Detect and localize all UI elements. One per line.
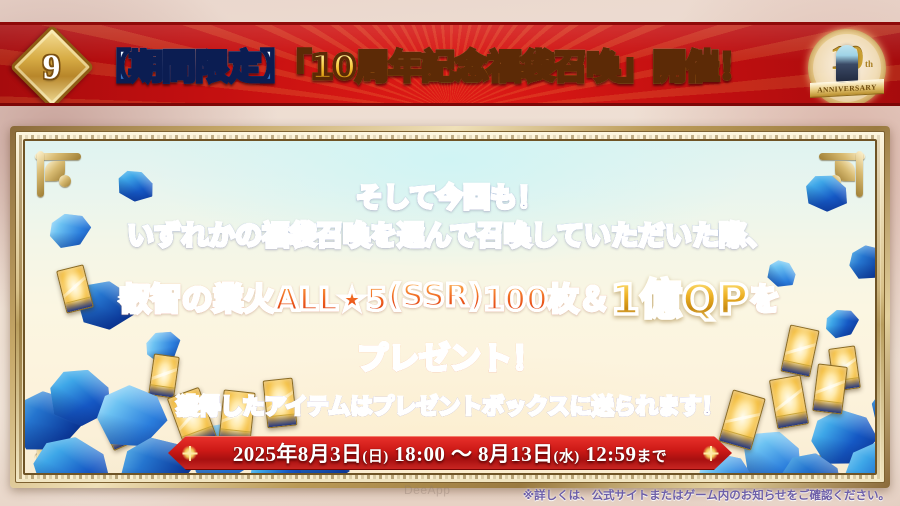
period-start-date: 2025年8月3日: [233, 442, 363, 466]
period-start-time: 18:00: [394, 442, 445, 466]
period-separator: 〜: [451, 442, 472, 466]
panel-inner-surface: そして今回も！ いずれかの福袋召喚を選んで召喚していただいた際、 叡智の業火AL…: [23, 139, 877, 475]
announcement-screen: 9 【期間限定】「10周年記念福袋召喚」開催！ 10 th ANNIVERSAR…: [0, 0, 900, 506]
title-highlight-text: 【期間限定】: [96, 48, 294, 88]
reward-rarity: (SSR): [387, 278, 482, 314]
period-end-time: 12:59: [585, 442, 636, 466]
present-label: プレゼント！: [25, 333, 875, 378]
reward-line: 叡智の業火ALL★5(SSR)100枚＆1億QPを: [25, 266, 875, 327]
event-period-text: 2025年8月3日(日) 18:00 〜 8月13日(水) 12:59まで: [233, 438, 667, 468]
period-suffix: まで: [636, 449, 667, 465]
anniversary-ordinal: th: [865, 59, 873, 69]
sparkle-right-icon: [703, 446, 718, 461]
period-start-weekday: (日): [362, 449, 388, 465]
body-line-last: 獲得したアイテムはプレゼントボックスに送られます！: [25, 396, 875, 419]
period-end-weekday: (水): [554, 449, 580, 465]
anniversary-character-icon: [836, 45, 858, 85]
watermark: DeeApp: [404, 483, 450, 497]
body-line-2: いずれかの福袋召喚を選んで召喚していただいた際、: [25, 223, 875, 251]
reward-qp-amount: 1億QP: [611, 266, 749, 327]
anniversary-label: ANNIVERSARY: [817, 82, 877, 94]
item-number-label: 9: [43, 50, 61, 85]
reward-suffix: を: [749, 274, 780, 319]
page-title: 【期間限定】「10周年記念福袋召喚」開催！: [96, 40, 751, 89]
reward-item-name: 叡智の業火ALL★5: [120, 274, 388, 319]
footnote: ※詳しくは、公式サイトまたはゲーム内のお知らせをご確認ください。: [523, 487, 890, 503]
period-end-date: 8月13日: [478, 442, 554, 466]
event-period-banner: 2025年8月3日(日) 18:00 〜 8月13日(水) 12:59まで: [168, 436, 732, 470]
announcement-body: そして今回も！ いずれかの福袋召喚を選んで召喚していただいた際、 叡智の業火AL…: [25, 185, 875, 419]
header-bar: 9 【期間限定】「10周年記念福袋召喚」開催！ 10 th ANNIVERSAR…: [0, 22, 900, 106]
title-main-text: 「10周年記念福袋召喚」開催！: [294, 48, 751, 88]
anniversary-logo: 10 th ANNIVERSARY: [808, 29, 886, 106]
content-panel: そして今回も！ いずれかの福袋召喚を選んで召喚していただいた際、 叡智の業火AL…: [10, 126, 890, 488]
sparkle-left-icon: [182, 446, 197, 461]
reward-quantity: 100枚＆: [483, 274, 610, 319]
body-line-1: そして今回も！: [25, 185, 875, 213]
